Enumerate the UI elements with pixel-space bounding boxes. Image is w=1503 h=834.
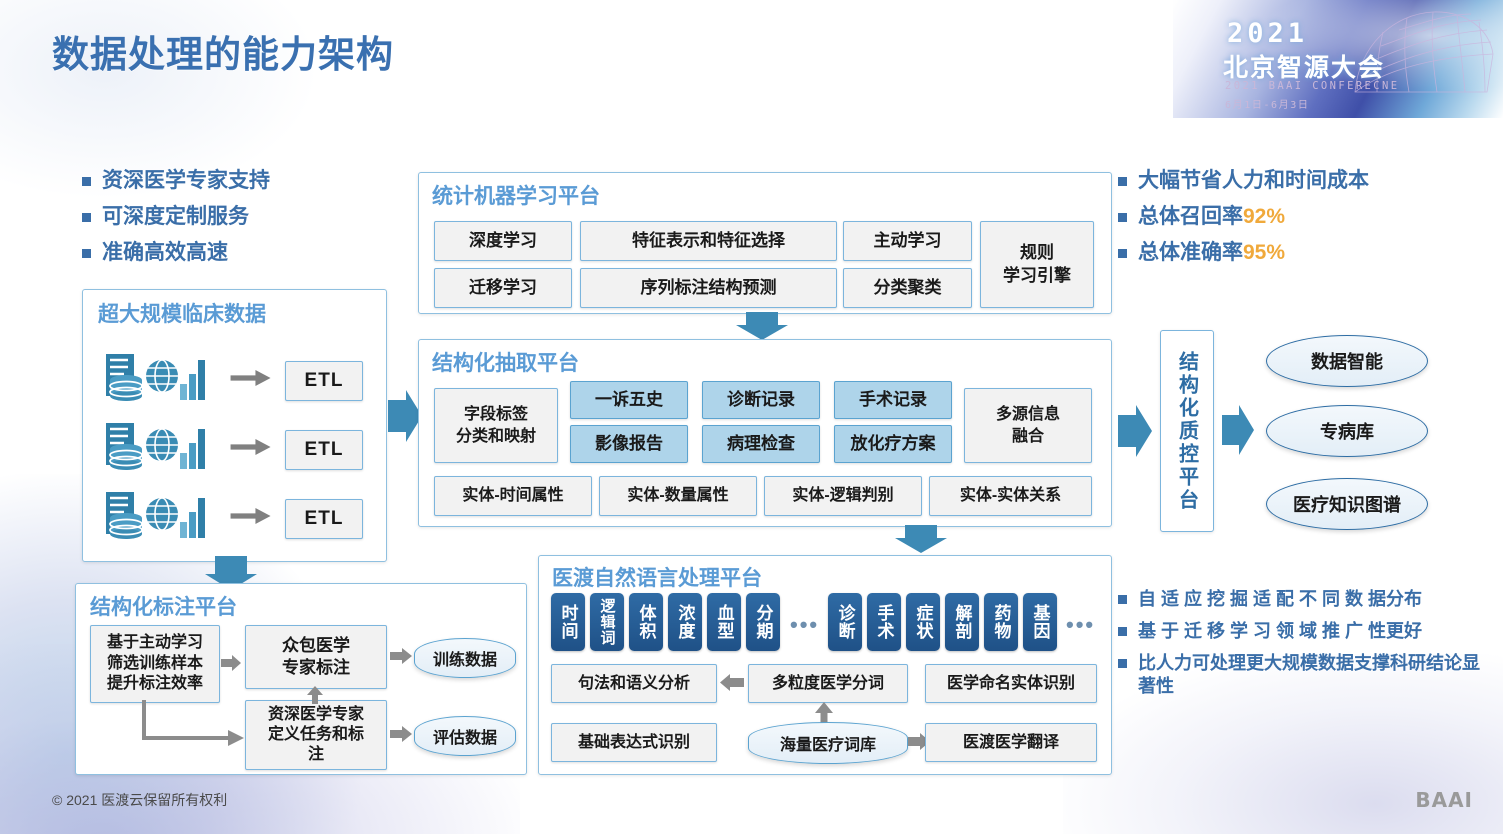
nlp-vchip-drug: 药物: [984, 593, 1018, 651]
list-item: 比人力可处理更大规模数据支撑科研结论显著性: [1118, 652, 1490, 698]
output-cylinder-disease-db: 专病库: [1266, 405, 1428, 457]
arrow-left-icon: [720, 674, 744, 691]
field-label-line1: 字段标签: [464, 404, 528, 426]
field-label-line2: 分类和映射: [456, 426, 536, 448]
bullet-text: 基 于 迁 移 学 习 领 域 推 广 性更好: [1138, 620, 1422, 643]
nlp-vchip-gene: 基因: [1023, 593, 1057, 651]
rule-engine-line1: 规则: [1020, 242, 1054, 265]
bullet-text: 比人力可处理更大规模数据支撑科研结论显著性: [1138, 652, 1490, 698]
labeling-chip-active-learning: 基于主动学习 筛选训练样本 提升标注效率: [90, 625, 220, 703]
list-item: 总体召回率92%: [1118, 204, 1478, 231]
nlp-chip-basic-expression: 基础表达式识别: [551, 723, 717, 762]
etl-box-1: ETL: [285, 361, 363, 401]
ml-chip-deep-learning: 深度学习: [434, 221, 572, 261]
labeling-chip-crowd-annotation: 众包医学 专家标注: [245, 625, 387, 689]
etl-box-3: ETL: [285, 499, 363, 539]
extract-chip-yisuwushi: 一诉五史: [570, 381, 688, 419]
list-item: 可深度定制服务: [82, 204, 382, 231]
nlp-vchip-surgery: 手术: [867, 593, 901, 651]
extract-chip-pathology-exam: 病理检查: [702, 425, 820, 463]
list-item: 准确高效高速: [82, 240, 382, 267]
bullet-text: 自 适 应 挖 掘 适 配 不 同 数 据分布: [1138, 588, 1422, 611]
slide-canvas: 数据处理的能力架构 2021 北京智源大会 2021 BAAI CONFEREC…: [0, 0, 1503, 834]
nlp-cylinder-medical-lexicon: 海量医疗词库: [748, 722, 908, 764]
fusion-line1: 多源信息: [996, 404, 1060, 426]
database-globe-chart-icon: [100, 348, 212, 410]
bullet-square-icon: [82, 177, 91, 186]
database-globe-chart-icon: [100, 486, 212, 548]
nlp-chip-medical-translation: 医渡医学翻译: [925, 723, 1097, 762]
ml-chip-feature-repr: 特征表示和特征选择: [580, 221, 837, 261]
list-item: 基 于 迁 移 学 习 领 域 推 广 性更好: [1118, 620, 1490, 643]
labeling-chip-expert-task: 资深医学专家 定义任务和标 注: [245, 700, 387, 770]
nlp-ellipsis-1: •••: [790, 612, 819, 638]
arrow-right-icon: [228, 508, 274, 524]
nlp-ellipsis-2: •••: [1066, 612, 1095, 638]
logo-year: 2021: [1227, 18, 1308, 49]
extract-chip-entity-logic: 实体-逻辑判别: [764, 476, 922, 516]
active-line1: 基于主动学习: [107, 633, 203, 654]
nlp-vchip-volume: 体积: [629, 593, 663, 651]
nlp-chip-multi-granularity-seg: 多粒度医学分词: [748, 664, 908, 703]
list-item: 总体准确率95%: [1118, 240, 1478, 267]
clinical-row-2: [100, 417, 212, 484]
bullet-text: 资深医学专家支持: [102, 168, 270, 195]
nlp-vchip-diagnosis: 诊断: [828, 593, 862, 651]
ml-platform-title: 统计机器学习平台: [432, 180, 600, 210]
database-globe-chart-icon: [100, 417, 212, 479]
arrow-right-icon: [390, 648, 412, 664]
nlp-vchip-anatomy: 解剖: [945, 593, 979, 651]
conference-logo: 2021 北京智源大会 2021 BAAI CONFERECNE 6月1日-6月…: [1173, 0, 1503, 118]
labeling-platform-title: 结构化标注平台: [90, 591, 237, 621]
bullet-square-icon: [82, 213, 91, 222]
nlp-chip-syntax-semantic: 句法和语义分析: [551, 664, 717, 703]
list-item: 资深医学专家支持: [82, 168, 382, 195]
active-line2: 筛选训练样本: [107, 654, 203, 675]
logo-name-cn: 北京智源大会: [1223, 48, 1385, 84]
extract-chip-surgery-record: 手术记录: [834, 381, 952, 419]
list-item: 大幅节省人力和时间成本: [1118, 168, 1478, 195]
elbow-connector-icon: [140, 700, 250, 750]
fusion-line2: 融合: [1012, 426, 1044, 448]
bullet-square-icon: [1118, 249, 1127, 258]
ml-chip-classify-cluster: 分类聚类: [843, 268, 972, 308]
copyright-footer: © 2021 医渡云保留所有权利: [52, 790, 227, 810]
output-cylinder-data-intelligence: 数据智能: [1266, 335, 1428, 387]
baai-logo: BAAI: [1415, 788, 1473, 812]
nlp-vchip-time: 时间: [551, 593, 585, 651]
nlp-vchip-stage: 分期: [746, 593, 780, 651]
extract-chip-field-label: 字段标签 分类和映射: [434, 388, 558, 463]
ml-chip-rule-engine: 规则 学习引擎: [980, 221, 1094, 308]
expert-line3: 注: [308, 745, 324, 765]
nlp-vchip-logic-word: 逻辑词: [590, 593, 624, 651]
etl-box-2: ETL: [285, 430, 363, 470]
extract-chip-diagnosis-record: 诊断记录: [702, 381, 820, 419]
expert-line2: 定义任务和标: [268, 725, 364, 745]
crowd-line2: 专家标注: [282, 657, 350, 679]
arrow-right-icon: [228, 439, 274, 455]
ml-chip-transfer-learning: 迁移学习: [434, 268, 572, 308]
left-bullet-list: 资深医学专家支持 可深度定制服务 准确高效高速: [82, 168, 382, 276]
bullet-highlight: 95%: [1243, 241, 1285, 264]
nlp-vchip-symptom: 症状: [906, 593, 940, 651]
nlp-platform-title: 医渡自然语言处理平台: [552, 562, 762, 592]
extract-chip-entity-relation: 实体-实体关系: [929, 476, 1092, 516]
logo-name-en: 2021 BAAI CONFERECNE: [1225, 80, 1399, 92]
clinical-row-3: [100, 486, 212, 553]
crowd-line1: 众包医学: [282, 635, 350, 657]
logo-dates: 6月1日-6月3日: [1225, 96, 1310, 111]
arrow-right-icon: [390, 726, 412, 742]
bullet-text: 大幅节省人力和时间成本: [1138, 168, 1369, 195]
chevron-right-large-icon: [1222, 405, 1254, 455]
extract-chip-imaging-report: 影像报告: [570, 425, 688, 463]
ml-chip-active-learning: 主动学习: [843, 221, 972, 261]
chevron-right-large-icon: [1118, 405, 1152, 457]
active-line3: 提升标注效率: [107, 674, 203, 695]
nlp-vchip-blood-type: 血型: [707, 593, 741, 651]
bullet-text: 总体准确率95%: [1138, 240, 1285, 267]
page-title: 数据处理的能力架构: [52, 24, 394, 78]
rule-engine-line2: 学习引擎: [1003, 265, 1071, 288]
arrow-right-icon: [221, 655, 241, 671]
list-item: 自 适 应 挖 掘 适 配 不 同 数 据分布: [1118, 588, 1490, 611]
ml-chip-seq-labeling: 序列标注结构预测: [580, 268, 837, 308]
labeling-cylinder-training-data: 训练数据: [414, 638, 516, 678]
bullet-square-icon: [1118, 659, 1127, 668]
output-cylinder-knowledge-graph: 医疗知识图谱: [1266, 478, 1428, 530]
chevron-down-large-icon: [736, 312, 788, 340]
nlp-chip-medical-ner: 医学命名实体识别: [925, 664, 1097, 703]
extract-chip-multi-source-fusion: 多源信息 融合: [964, 388, 1092, 463]
extract-chip-entity-time: 实体-时间属性: [434, 476, 592, 516]
expert-line1: 资深医学专家: [268, 705, 364, 725]
chevron-right-large-icon: [388, 390, 422, 442]
bullet-square-icon: [1118, 627, 1127, 636]
chevron-down-large-icon: [895, 525, 947, 553]
bullet-text: 可深度定制服务: [102, 204, 249, 231]
arrow-right-icon: [228, 370, 274, 386]
right-top-bullet-list: 大幅节省人力和时间成本 总体召回率92% 总体准确率95%: [1118, 168, 1478, 276]
right-bottom-bullet-list: 自 适 应 挖 掘 适 配 不 同 数 据分布 基 于 迁 移 学 习 领 域 …: [1118, 588, 1490, 707]
labeling-cylinder-eval-data: 评估数据: [414, 716, 516, 756]
bullet-square-icon: [1118, 177, 1127, 186]
bullet-square-icon: [1118, 213, 1127, 222]
qc-platform-panel: 结构化质控平台: [1160, 330, 1214, 532]
arrow-up-icon: [815, 702, 833, 724]
extract-chip-chemoradio-plan: 放化疗方案: [834, 425, 952, 463]
arrow-up-icon: [307, 686, 323, 704]
nlp-vchip-concentration: 浓度: [668, 593, 702, 651]
clinical-data-panel-title: 超大规模临床数据: [98, 298, 266, 328]
clinical-row-1: [100, 348, 212, 415]
extract-chip-entity-quantity: 实体-数量属性: [599, 476, 757, 516]
bullet-text: 总体召回率92%: [1138, 204, 1285, 231]
qc-platform-title: 结构化质控平台: [1173, 351, 1202, 512]
bullet-square-icon: [1118, 595, 1127, 604]
extraction-platform-title: 结构化抽取平台: [432, 347, 579, 377]
bullet-highlight: 92%: [1243, 205, 1285, 228]
bullet-text: 准确高效高速: [102, 240, 228, 267]
bullet-square-icon: [82, 249, 91, 258]
